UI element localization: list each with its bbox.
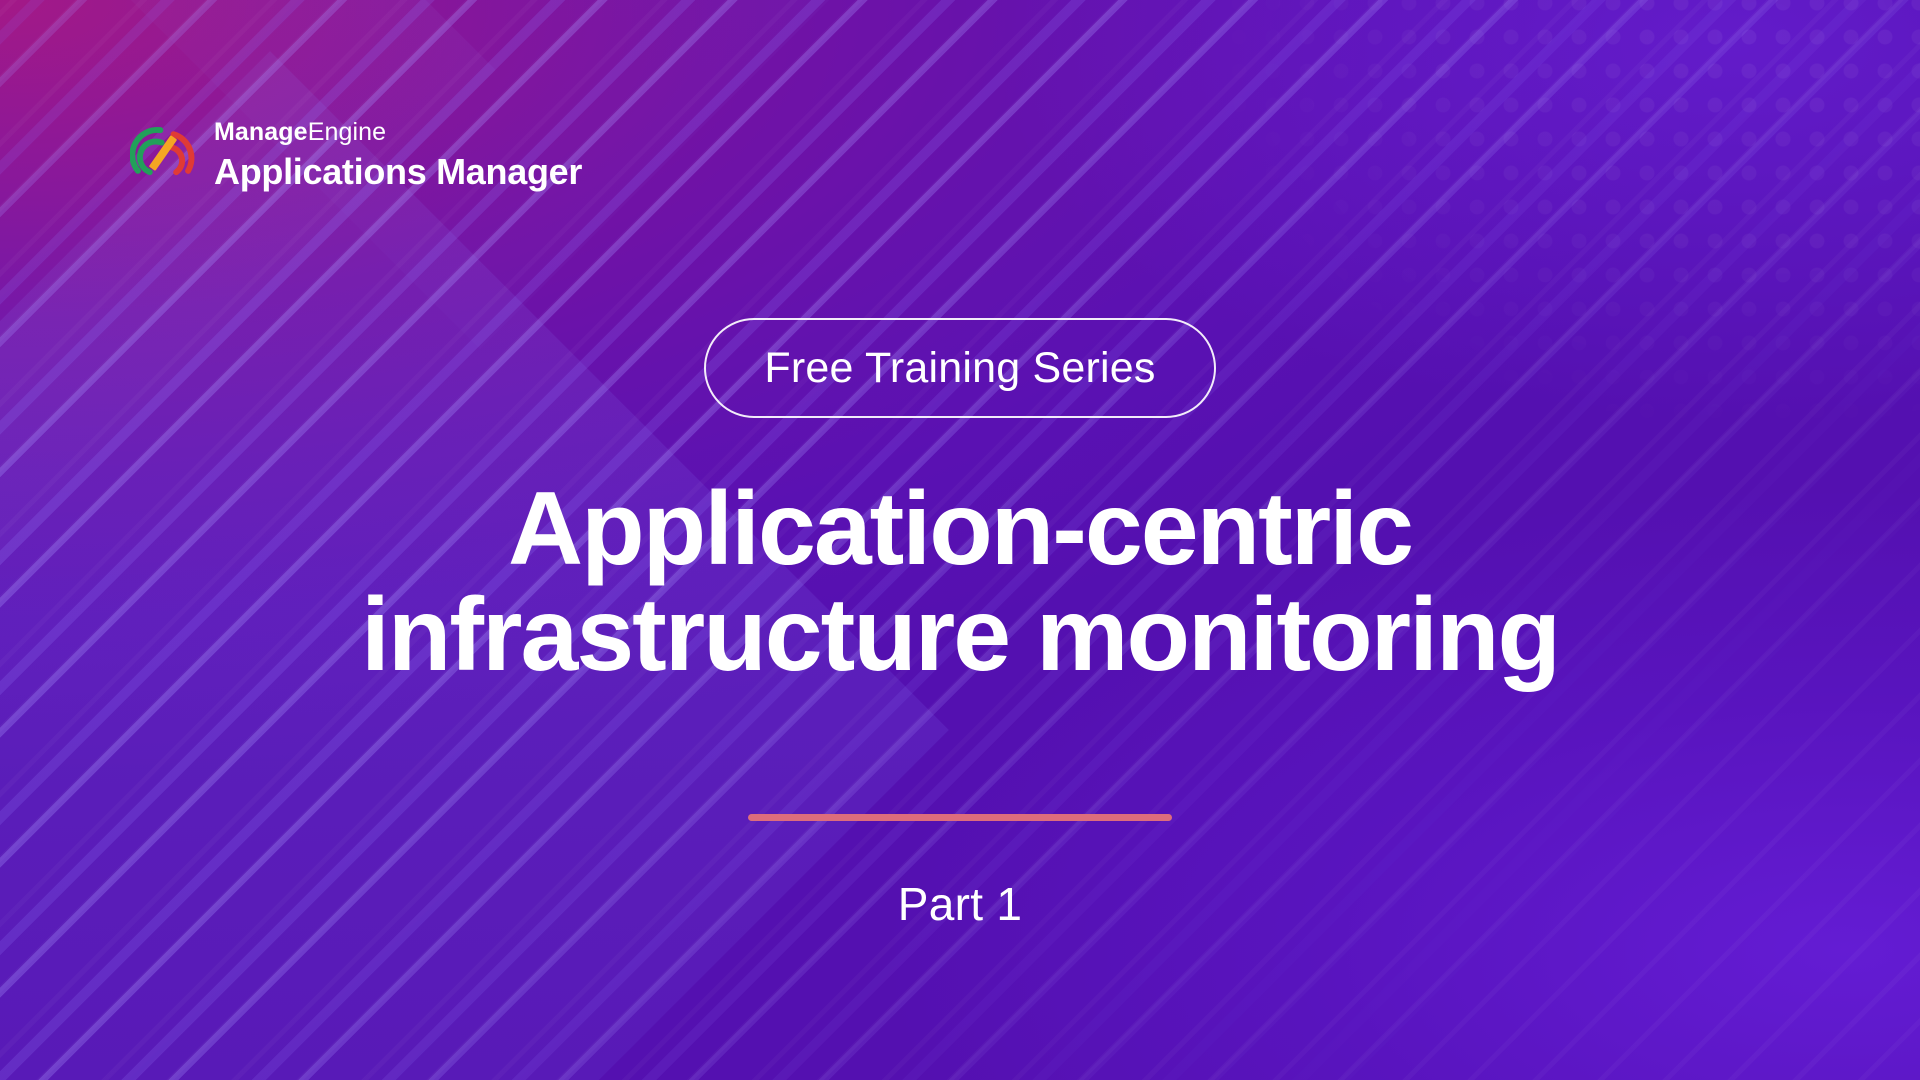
logo-text-block: ManageEngine Applications Manager	[214, 120, 582, 190]
manageengine-logo: ManageEngine Applications Manager	[130, 120, 582, 190]
page-title-line-1: Application-centric	[361, 476, 1559, 582]
title-divider	[748, 814, 1172, 821]
page-title: Application-centric infrastructure monit…	[361, 476, 1559, 688]
title-slide: ManageEngine Applications Manager Free T…	[0, 0, 1920, 1080]
logo-brand-bold: Manage	[214, 118, 308, 146]
logo-brand-name: ManageEngine	[214, 120, 582, 145]
logo-product-name: Applications Manager	[214, 154, 582, 190]
free-training-series-badge: Free Training Series	[704, 318, 1215, 418]
slide-content: Free Training Series Application-centric…	[0, 318, 1920, 931]
page-title-line-2: infrastructure monitoring	[361, 582, 1559, 688]
part-label: Part 1	[898, 877, 1023, 931]
logo-brand-light: Engine	[308, 118, 386, 146]
gauge-speedometer-icon	[130, 122, 196, 188]
